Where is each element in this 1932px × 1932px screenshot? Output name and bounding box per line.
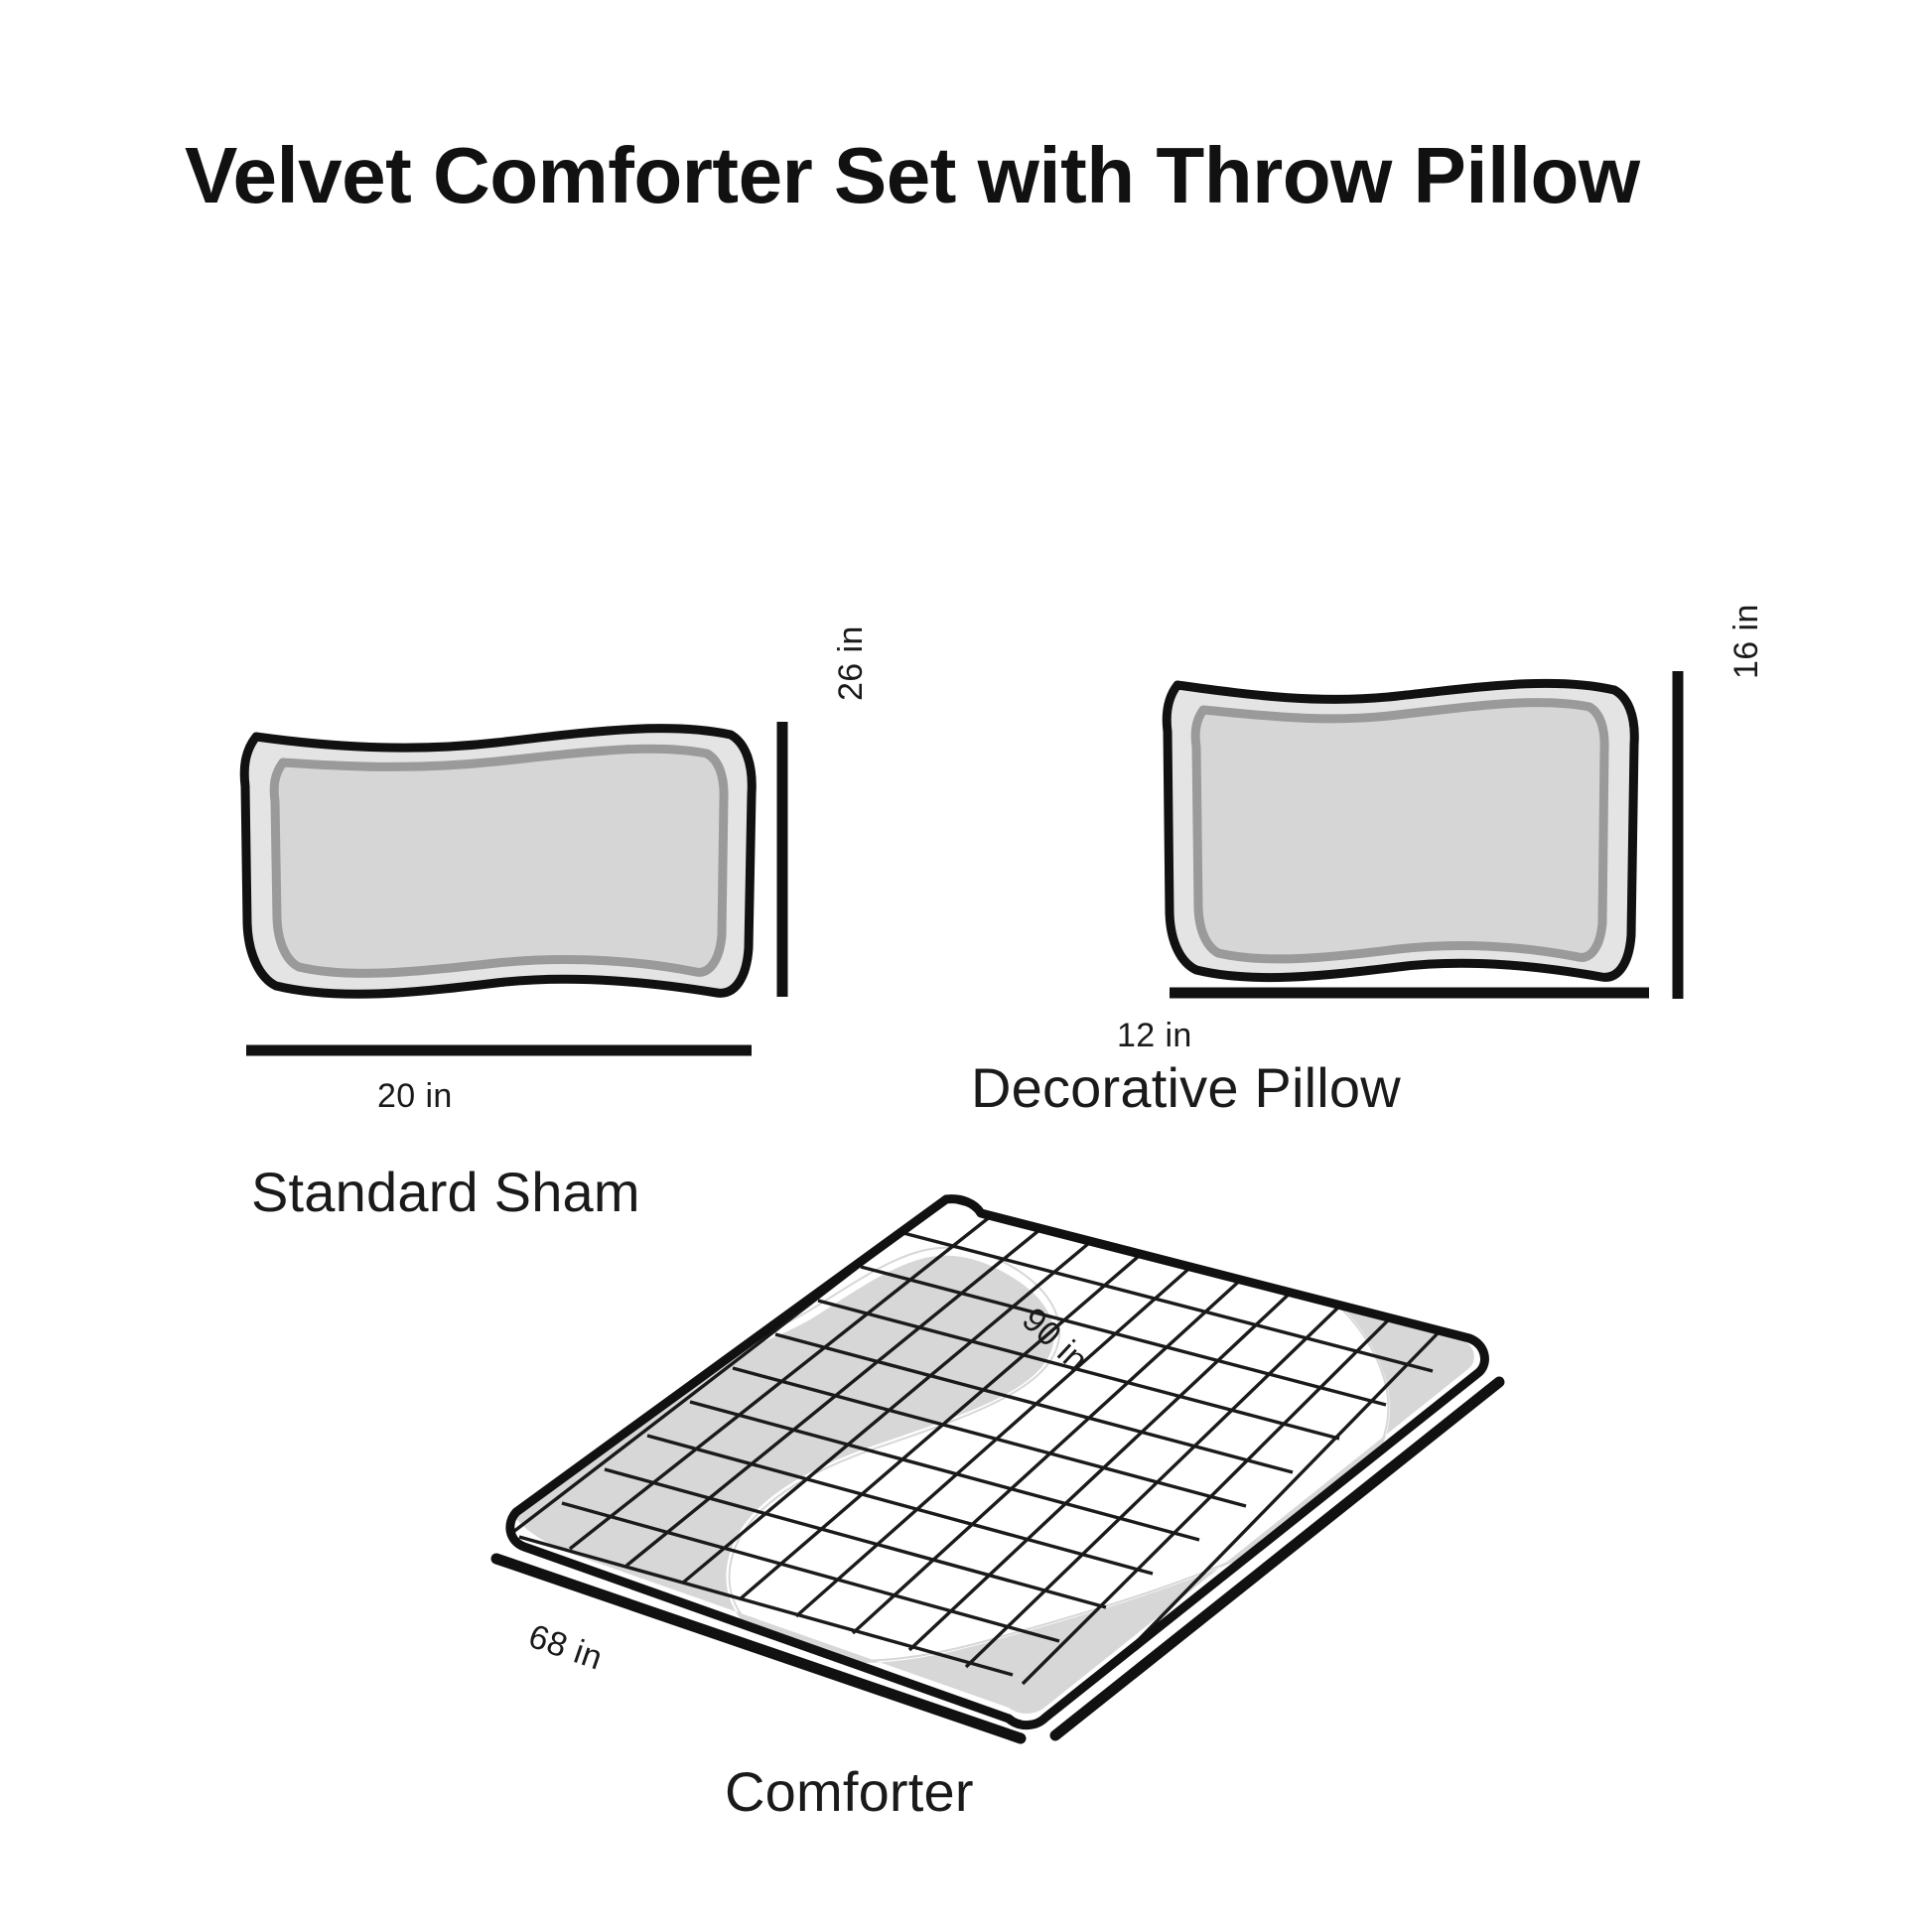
decorative-pillow-illustration <box>1167 683 1634 977</box>
standard-sham-label: Standard Sham <box>251 1160 640 1224</box>
sham-inner-panel <box>274 749 724 973</box>
comforter-label: Comforter <box>725 1759 974 1824</box>
decorative-pillow-inner-panel <box>1195 703 1604 959</box>
page-title: Velvet Comforter Set with Throw Pillow <box>185 130 1640 221</box>
standard-sham-illustration <box>244 729 752 995</box>
decorative-pillow-label: Decorative Pillow <box>971 1055 1401 1120</box>
sham-width-dimension-label: 20 in <box>377 1077 453 1116</box>
product-dimension-diagram: Velvet Comforter Set with Throw Pillow 2… <box>0 0 1932 1932</box>
decorative-pillow-width-dimension-label: 12 in <box>1117 1017 1192 1055</box>
sham-height-dimension-label: 26 in <box>832 625 871 701</box>
comforter-illustration <box>496 1181 1509 1747</box>
decorative-pillow-height-dimension-label: 16 in <box>1727 604 1766 679</box>
diagram-canvas <box>0 0 1932 1932</box>
